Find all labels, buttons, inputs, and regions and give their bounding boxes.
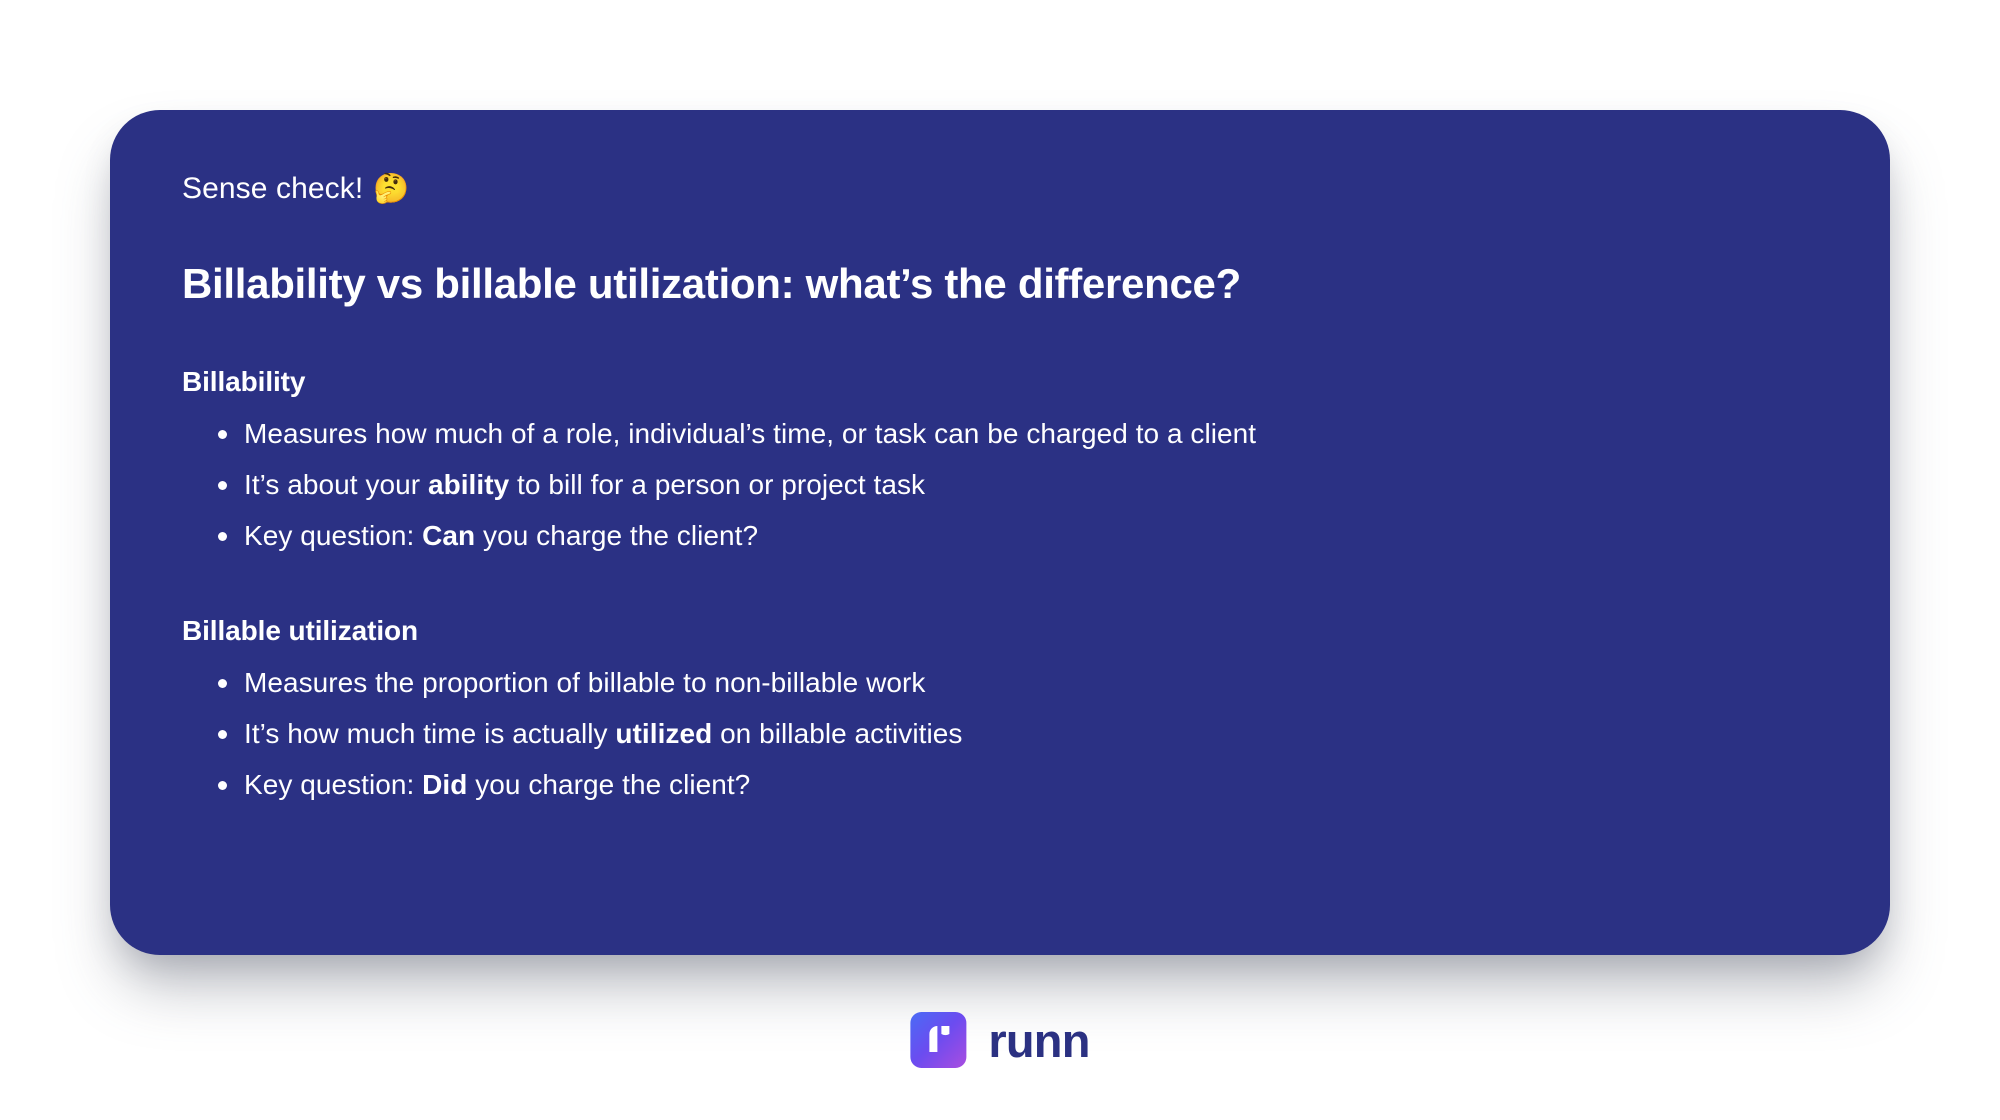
bullet-point-icon bbox=[218, 430, 227, 439]
list-item: Measures the proportion of billable to n… bbox=[182, 657, 1818, 708]
eyebrow-label: Sense check! 🤔 bbox=[182, 170, 1818, 208]
list-item-text: Measures the proportion of billable to n… bbox=[244, 667, 925, 698]
list-item-text: Measures how much of a role, individual’… bbox=[244, 418, 1256, 449]
list-item-text: Key question: Did you charge the client? bbox=[244, 769, 750, 800]
section-billable-utilization: Billable utilization Measures the propor… bbox=[182, 613, 1818, 810]
bullet-point-icon bbox=[218, 730, 227, 739]
list-item: Key question: Can you charge the client? bbox=[182, 510, 1818, 561]
runn-logo: runn bbox=[910, 1012, 1089, 1068]
section-heading: Billability bbox=[182, 364, 1818, 400]
content-card: Sense check! 🤔 Billability vs billable u… bbox=[110, 110, 1890, 955]
list-item-text: It’s how much time is actually utilized … bbox=[244, 718, 962, 749]
eyebrow-text: Sense check! bbox=[182, 170, 363, 208]
bullet-point-icon bbox=[218, 532, 227, 541]
section-billability: Billability Measures how much of a role,… bbox=[182, 364, 1818, 561]
bullet-list-billable-utilization: Measures the proportion of billable to n… bbox=[182, 657, 1818, 810]
list-item: Measures how much of a role, individual’… bbox=[182, 408, 1818, 459]
page-title: Billability vs billable utilization: wha… bbox=[182, 258, 1818, 310]
slide-canvas: Sense check! 🤔 Billability vs billable u… bbox=[0, 0, 2000, 1120]
bullet-point-icon bbox=[218, 781, 227, 790]
list-item-text: It’s about your ability to bill for a pe… bbox=[244, 469, 925, 500]
list-item: Key question: Did you charge the client? bbox=[182, 759, 1818, 810]
bullet-point-icon bbox=[218, 679, 227, 688]
bullet-point-icon bbox=[218, 481, 227, 490]
runn-logo-mark-icon bbox=[910, 1012, 966, 1068]
list-item-text: Key question: Can you charge the client? bbox=[244, 520, 758, 551]
list-item: It’s how much time is actually utilized … bbox=[182, 708, 1818, 759]
thinking-face-emoji: 🤔 bbox=[373, 175, 409, 204]
runn-wordmark: runn bbox=[988, 1017, 1089, 1064]
section-heading: Billable utilization bbox=[182, 613, 1818, 649]
list-item: It’s about your ability to bill for a pe… bbox=[182, 459, 1818, 510]
bullet-list-billability: Measures how much of a role, individual’… bbox=[182, 408, 1818, 561]
